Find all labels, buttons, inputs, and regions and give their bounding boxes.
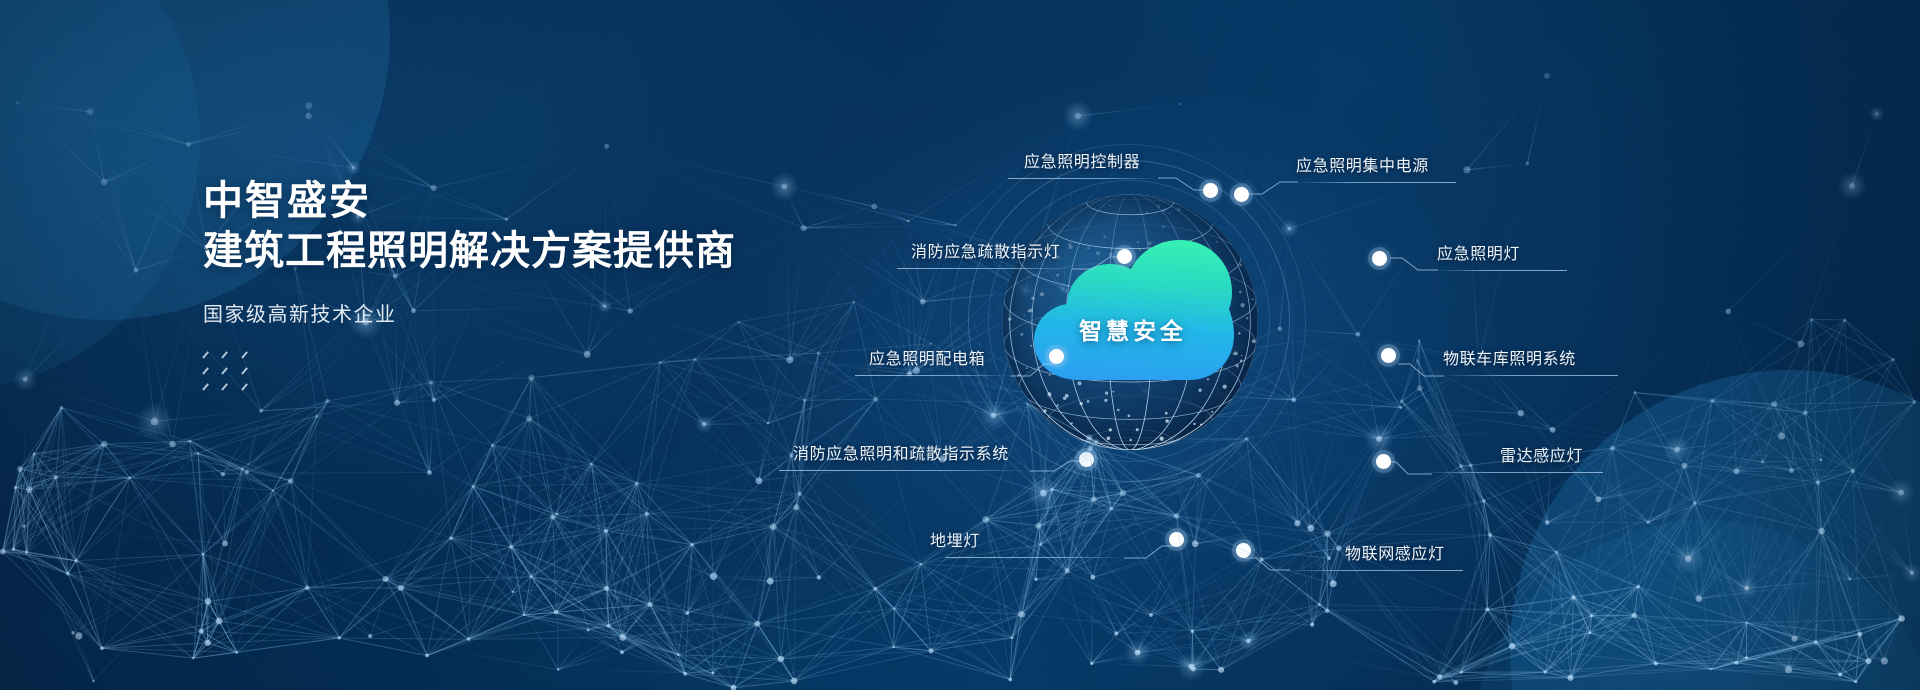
cloud-label: 智慧安全: [1028, 312, 1238, 346]
bottom-network-mesh: [0, 260, 1920, 690]
callout-dot[interactable]: [1203, 183, 1218, 198]
callout-dot[interactable]: [1234, 187, 1249, 202]
callout-underline: [1008, 178, 1158, 179]
brand-name: 中智盛安: [203, 176, 736, 226]
hero-banner: 中智盛安 建筑工程照明解决方案提供商 国家级高新技术企业: [0, 0, 1920, 690]
callout-label: 消防应急疏散指示灯: [911, 238, 1060, 262]
callout-underline: [1296, 182, 1456, 183]
callout-label: 应急照明控制器: [1024, 148, 1140, 172]
callout-label: 应急照明集中电源: [1296, 152, 1429, 176]
